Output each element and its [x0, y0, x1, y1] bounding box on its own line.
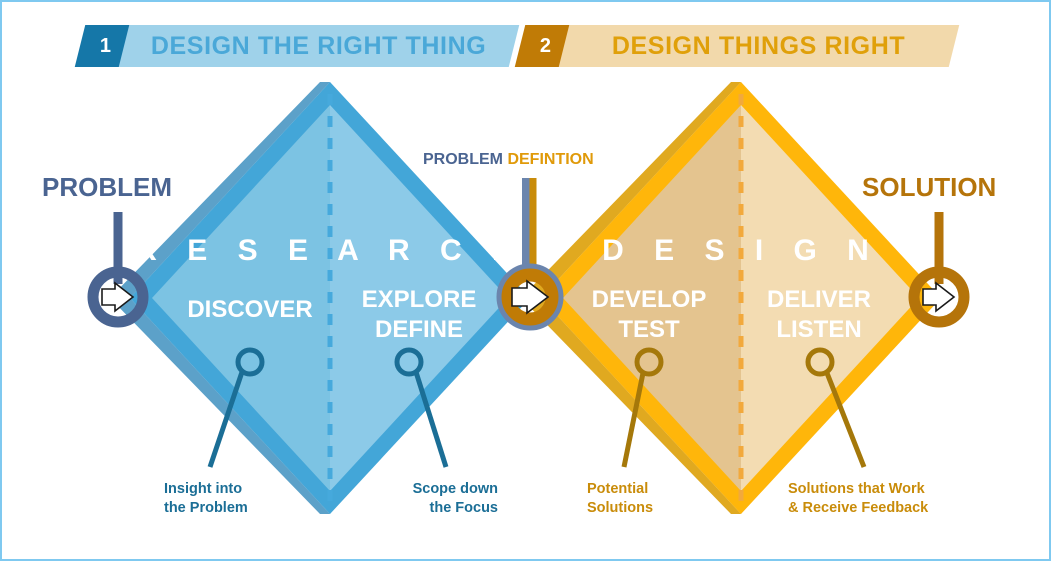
solution-label: SOLUTION — [862, 172, 996, 203]
problem-label: PROBLEM — [42, 172, 172, 203]
problem-definition-label-part1: PROBLEM — [423, 151, 503, 168]
phase-1-banner[interactable]: DESIGN THE RIGHT THING — [119, 25, 519, 67]
note-feedback: Solutions that Work & Receive Feedback — [788, 480, 928, 519]
problem-definition-label: PROBLEM DEFINTION — [423, 151, 594, 169]
stage-explore-define: EXPLORE DEFINE — [324, 285, 514, 345]
note-insight: Insight into the Problem — [164, 480, 248, 519]
note-scope: Scope down the Focus — [392, 480, 498, 519]
design-title: D E S I G N — [541, 234, 941, 268]
stage-discover: DISCOVER — [155, 295, 345, 325]
note-potential: Potential Solutions — [587, 480, 653, 519]
phase-2-banner[interactable]: DESIGN THINGS RIGHT — [559, 25, 959, 67]
phase-1-label: DESIGN THE RIGHT THING — [151, 32, 486, 61]
phase-2-number: 2 — [540, 35, 551, 58]
phase-2-label: DESIGN THINGS RIGHT — [612, 32, 905, 61]
research-title: R E S E A R C H — [130, 234, 530, 268]
double-diamond-diagram: 1 DESIGN THE RIGHT THING 2 DESIGN THINGS… — [0, 0, 1051, 561]
stage-develop-test: DEVELOP TEST — [554, 285, 744, 345]
phase-1-number: 1 — [100, 35, 111, 58]
problem-definition-label-part2: DEFINTION — [507, 151, 593, 168]
diagram-graphics — [2, 2, 1051, 561]
stage-deliver-listen: DELIVER LISTEN — [724, 285, 914, 345]
